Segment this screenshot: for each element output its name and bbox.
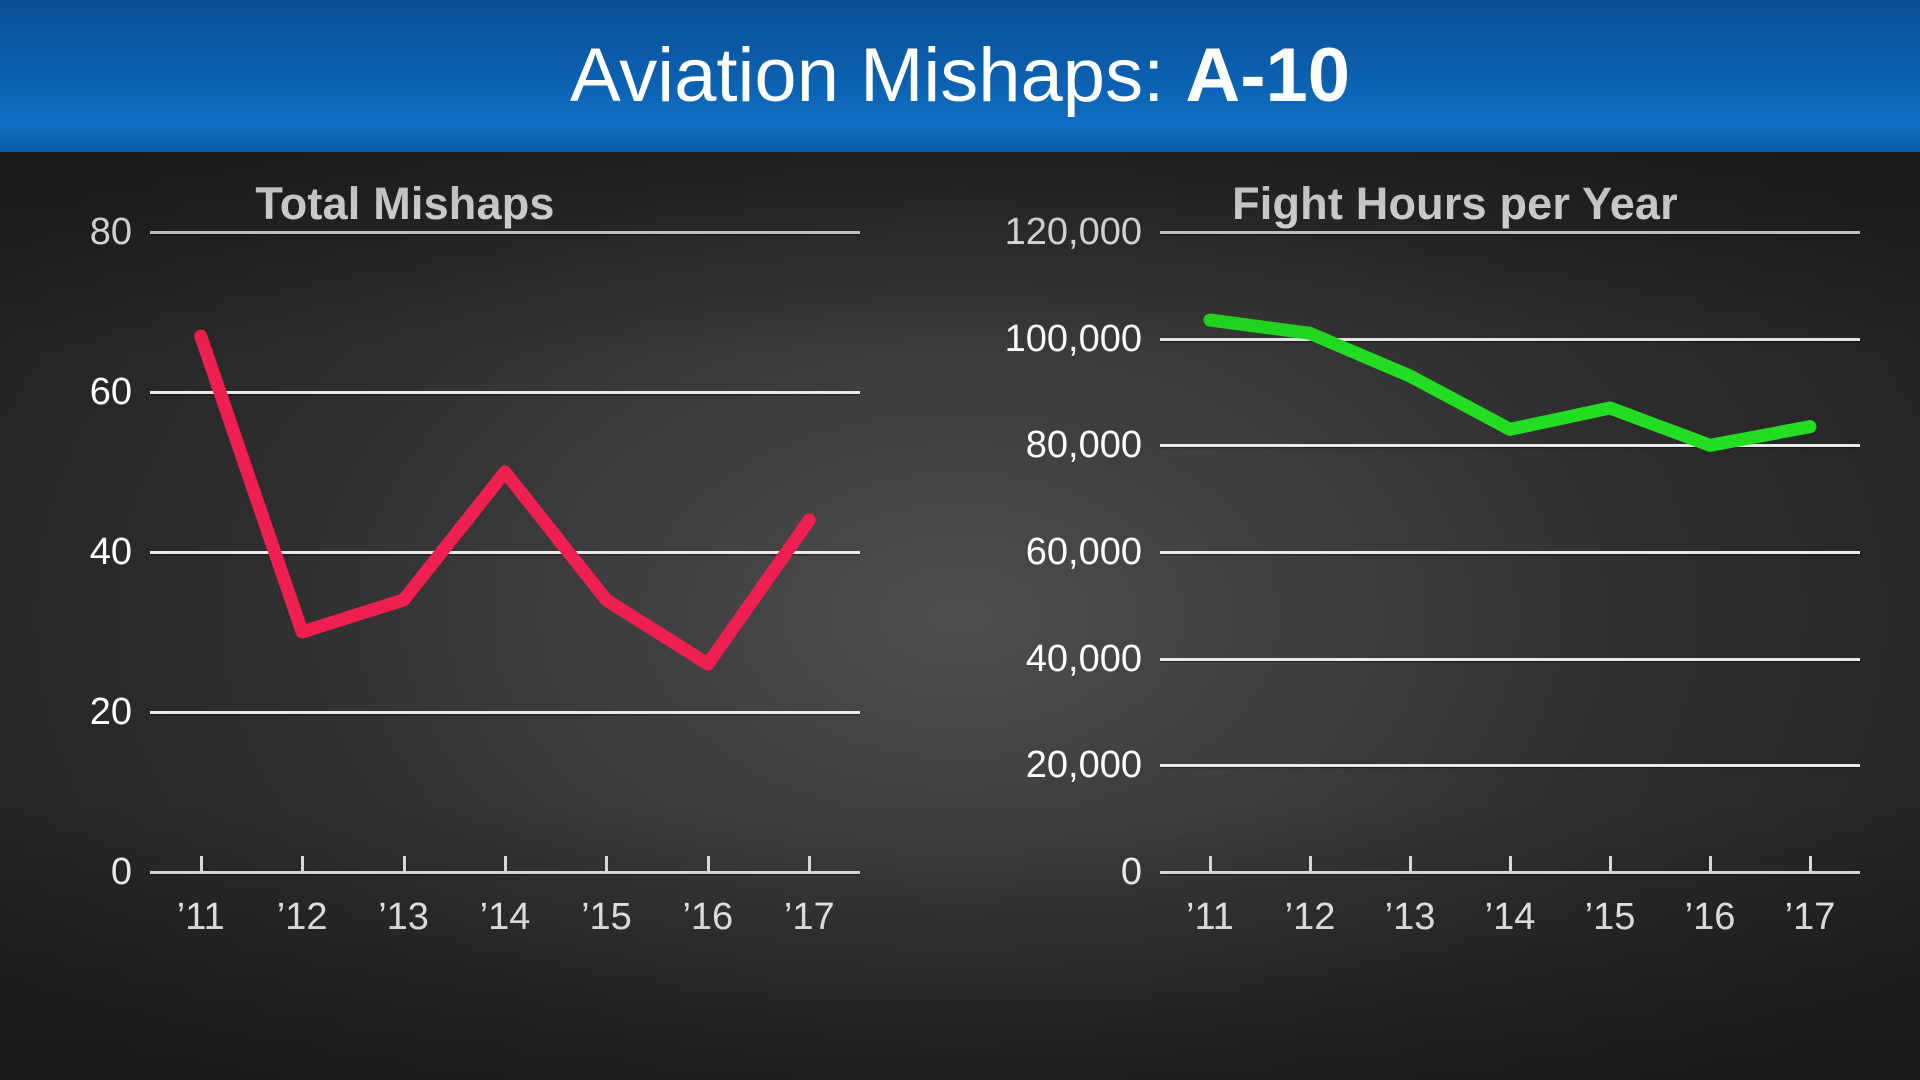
page-title: Aviation Mishaps: A-10 — [570, 38, 1350, 114]
data-line — [1210, 320, 1810, 445]
page-title-bold: A-10 — [1185, 33, 1350, 118]
x-axis-tick-label: ’17 — [784, 898, 835, 936]
y-axis-tick-label: 80 — [90, 213, 132, 251]
x-axis-tick-label: ’14 — [480, 898, 531, 936]
slide-root: Aviation Mishaps: A-10 Total Mishaps 020… — [0, 0, 1920, 1080]
x-axis-tick-label: ’13 — [1385, 898, 1436, 936]
x-axis-tick-label: ’13 — [378, 898, 429, 936]
x-axis-tick-label: ’14 — [1485, 898, 1536, 936]
x-axis-tick-label: ’17 — [1785, 898, 1836, 936]
plot-area-total-mishaps: 020406080’11’12’13’14’15’16’17 — [150, 232, 860, 872]
y-axis-tick-label: 0 — [1121, 853, 1142, 891]
chart-panel-flight-hours: Fight Hours per Year 020,00040,00060,000… — [930, 152, 1920, 1080]
x-axis-tick-label: ’11 — [1186, 898, 1234, 936]
y-axis-tick-label: 20,000 — [1026, 746, 1142, 784]
plot-area-flight-hours: 020,00040,00060,00080,000100,000120,000’… — [1160, 232, 1860, 872]
y-axis-tick-label: 60,000 — [1026, 533, 1142, 571]
chart-stage: Total Mishaps 020406080’11’12’13’14’15’1… — [0, 152, 1920, 1080]
x-axis-tick-label: ’15 — [581, 898, 632, 936]
y-axis-tick-label: 60 — [90, 373, 132, 411]
x-axis-tick-label: ’15 — [1585, 898, 1636, 936]
y-axis-tick-label: 0 — [111, 853, 132, 891]
x-axis-tick-label: ’11 — [177, 898, 225, 936]
y-axis-tick-label: 40,000 — [1026, 640, 1142, 678]
chart-panel-total-mishaps: Total Mishaps 020406080’11’12’13’14’15’1… — [0, 152, 930, 1080]
data-line — [201, 336, 810, 664]
x-axis-tick-label: ’16 — [682, 898, 733, 936]
series-line-total-mishaps — [150, 232, 860, 872]
title-banner: Aviation Mishaps: A-10 — [0, 0, 1920, 152]
x-axis-tick-label: ’12 — [1285, 898, 1336, 936]
y-axis-tick-label: 40 — [90, 533, 132, 571]
y-axis-tick-label: 120,000 — [1005, 213, 1142, 251]
y-axis-tick-label: 80,000 — [1026, 426, 1142, 464]
page-title-regular: Aviation Mishaps: — [570, 33, 1185, 118]
x-axis-tick-label: ’12 — [277, 898, 328, 936]
x-axis-tick-label: ’16 — [1685, 898, 1736, 936]
series-line-flight-hours — [1160, 232, 1860, 872]
y-axis-tick-label: 100,000 — [1005, 320, 1142, 358]
y-axis-tick-label: 20 — [90, 693, 132, 731]
